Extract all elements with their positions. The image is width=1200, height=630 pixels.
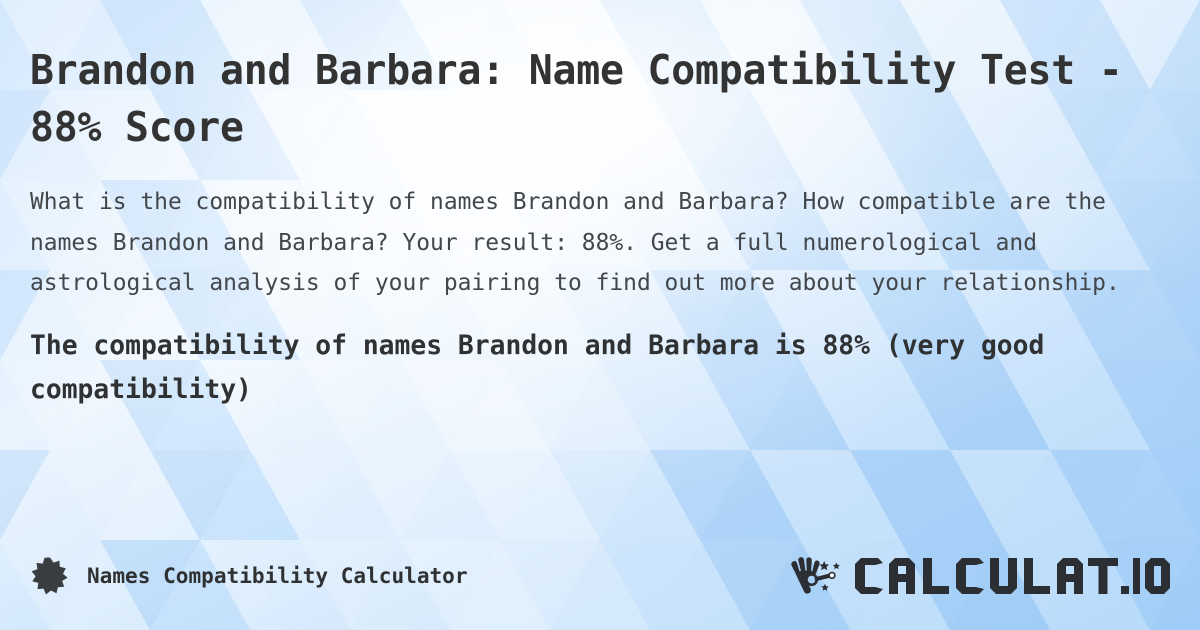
share-card: Brandon and Barbara: Name Compatibility …: [0, 0, 1200, 630]
card-footer: Names Compatibility Calculator: [0, 548, 1200, 604]
calculatio-logo[interactable]: [790, 554, 1170, 598]
lead-paragraph: What is the compatibility of names Brand…: [30, 181, 1142, 302]
page-title: Brandon and Barbara: Name Compatibility …: [30, 42, 1136, 155]
brand-label: Names Compatibility Calculator: [87, 564, 468, 589]
card-content: Brandon and Barbara: Name Compatibility …: [0, 0, 1200, 630]
logo-wordmark: [850, 554, 1140, 598]
result-statement: The compatibility of names Brandon and B…: [30, 324, 1142, 411]
starburst-icon: [30, 556, 70, 596]
brand-group: Names Compatibility Calculator: [30, 556, 475, 596]
logo-o-glyph: [1144, 554, 1170, 598]
hand-magic-wand-icon: [790, 555, 846, 597]
